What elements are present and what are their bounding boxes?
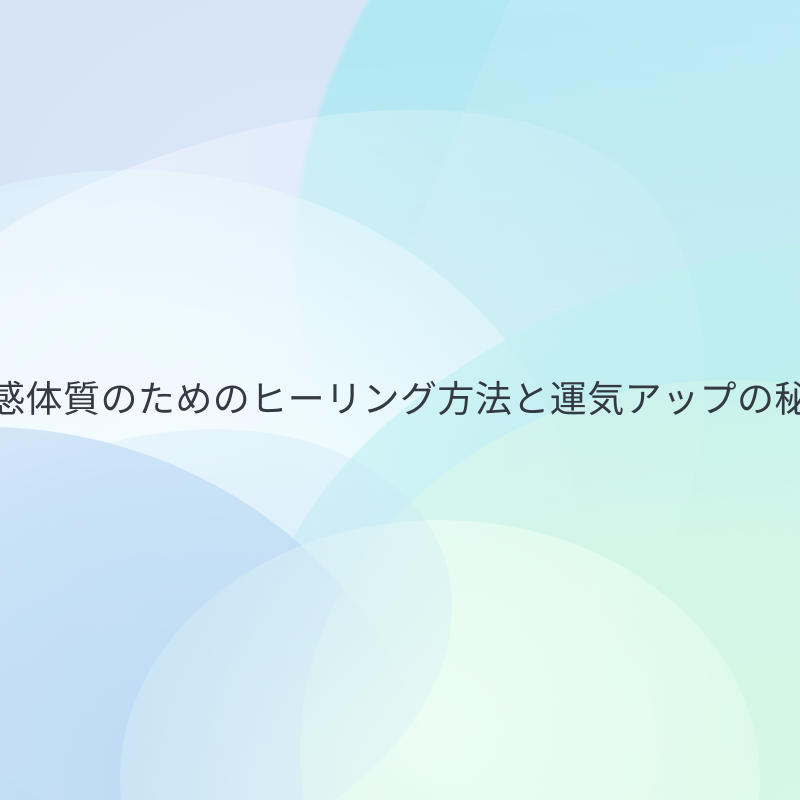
banner-title: 感体質のためのヒーリング方法と運気アップの秘 (0, 377, 800, 423)
banner-title-row: 感体質のためのヒーリング方法と運気アップの秘 (0, 0, 800, 800)
banner-canvas: 感体質のためのヒーリング方法と運気アップの秘 (0, 0, 800, 800)
